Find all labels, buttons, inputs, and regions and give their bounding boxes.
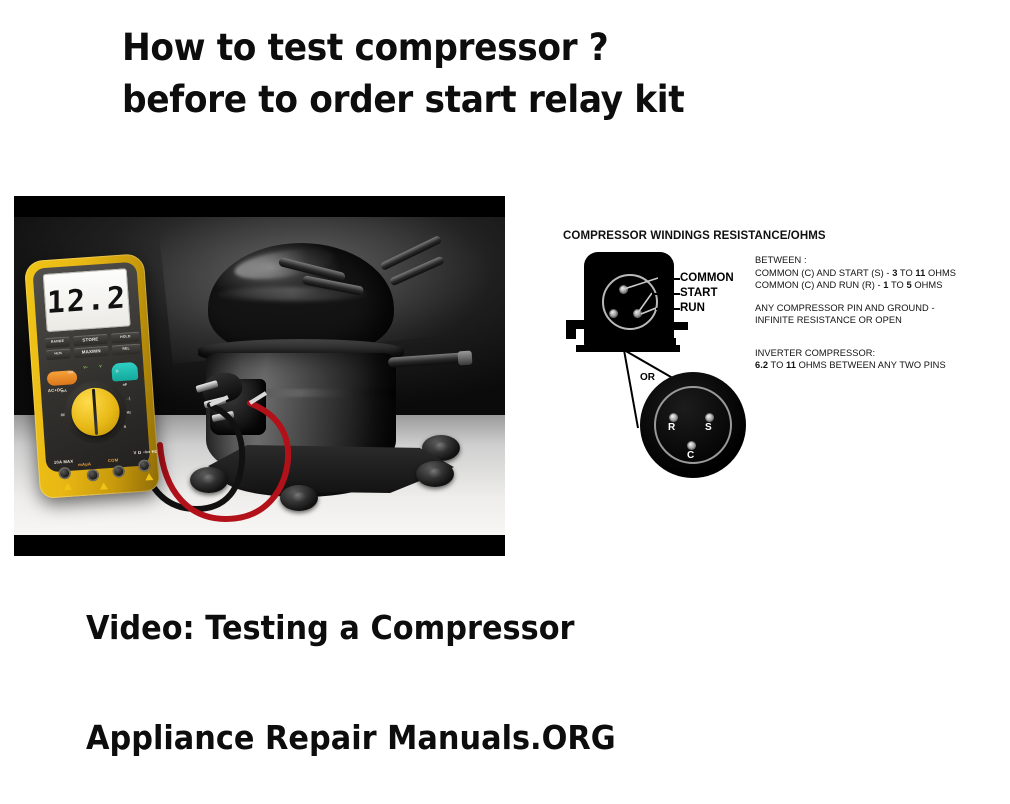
store-button[interactable]: STORE (73, 334, 108, 346)
site-caption: Appliance Repair Manuals.ORG (86, 718, 616, 757)
spec-common-run-max: 5 (906, 280, 911, 290)
callout-rule-common (658, 278, 680, 280)
jack-label-ma: mAµA (78, 461, 91, 467)
resistance-reading: 12.2 (47, 280, 127, 321)
plug-pin-run (670, 414, 677, 421)
maxmin-button[interactable]: MAXMIN (74, 346, 109, 358)
terminal-block-tab-left-lower (566, 329, 576, 339)
spec-heading-between: BETWEEN : (755, 254, 975, 267)
spec-inverter-heading: INVERTER COMPRESSOR: (755, 347, 975, 360)
input-jack-10a[interactable] (58, 467, 71, 480)
spec-common-run-min: 1 (883, 280, 888, 290)
callout-label-run: RUN (680, 302, 705, 314)
black-probe-tip (210, 397, 228, 405)
spec-spacer (755, 337, 975, 347)
rel-button[interactable]: REL (112, 344, 141, 356)
terminal-block-tab-right (670, 322, 688, 330)
diagram-pin-start (634, 310, 641, 317)
multimeter-button-row: RANGE Hz% STORE MAXMIN HOLD REL (45, 331, 143, 366)
photo-scene: 12.2 RANGE Hz% STORE MAXMIN HOLD REL AC+… (14, 217, 505, 535)
callout-rule-start (652, 293, 680, 295)
plug-pin-label-run: R (668, 422, 675, 433)
plug-pin-label-common: C (687, 450, 694, 461)
warning-triangle-icon (145, 473, 153, 481)
spec-spacer (755, 292, 975, 302)
compressor-windings-diagram: COMPRESSOR WINDINGS RESISTANCE/OHMS COMM… (562, 230, 982, 495)
diagram-pin-run (610, 310, 617, 317)
input-jack-common[interactable] (112, 465, 125, 478)
page-title-line-2: before to order start relay kit (122, 74, 754, 126)
plug-pin-label-start: S (705, 422, 712, 433)
diagram-title: COMPRESSOR WINDINGS RESISTANCE/OHMS (563, 230, 826, 242)
multimeter-jack-panel: 10A MAX mAµA COM V Ω ⊣↦ Hz (51, 446, 146, 498)
spec-common-start: COMMON (C) AND START (S) - 3 TO 11 OHMS (755, 267, 975, 280)
terminal-block-base (576, 345, 680, 352)
plug-pin-start (706, 414, 713, 421)
warning-triangle-icon (99, 482, 107, 490)
spec-inverter-min: 6.2 (755, 360, 768, 370)
compressor-test-photo: 12.2 RANGE Hz% STORE MAXMIN HOLD REL AC+… (14, 196, 505, 556)
dial-tick-vac: V~ (83, 365, 88, 369)
warning-triangle-icon (63, 483, 71, 491)
range-button[interactable]: RANGE (45, 336, 70, 348)
input-jack-ma[interactable] (87, 469, 100, 482)
jack-label-10a: 10A MAX (54, 459, 74, 465)
dial-tick-diode: →| (126, 396, 131, 400)
zoom-cone-edge-left (624, 350, 638, 428)
dial-tick-vdc: V (99, 364, 102, 368)
video-caption: Video: Testing a Compressor (86, 608, 575, 647)
page-title: How to test compressor ? before to order… (122, 22, 802, 126)
terminal-block-tab-left (566, 320, 588, 329)
spec-inverter-max: 11 (786, 360, 796, 370)
spec-spacer (755, 327, 975, 337)
or-label: OR (640, 372, 655, 383)
spec-common-start-max: 11 (915, 268, 925, 278)
spec-common-start-min: 3 (892, 268, 897, 278)
spec-ground-line-2: INFINITE RESISTANCE OR OPEN (755, 314, 975, 327)
dial-tick-ohms: Ω (116, 369, 119, 373)
spec-inverter-range: 6.2 TO 11 OHMS BETWEEN ANY TWO PINS (755, 359, 975, 372)
dial-tick-millivolt: mV (68, 370, 74, 374)
spec-ground-line-1: ANY COMPRESSOR PIN AND GROUND - (755, 302, 975, 315)
callout-label-common: COMMON (680, 272, 734, 284)
callout-label-start: START (680, 287, 717, 299)
dial-tick-capacitance: nF (123, 383, 128, 387)
resistance-spec-text: BETWEEN : COMMON (C) AND START (S) - 3 T… (755, 254, 975, 372)
page-title-line-1: How to test compressor ? (122, 22, 754, 74)
digital-multimeter[interactable]: 12.2 RANGE Hz% STORE MAXMIN HOLD REL AC+… (24, 253, 160, 499)
multimeter-faceplate: 12.2 RANGE Hz% STORE MAXMIN HOLD REL AC+… (32, 262, 150, 473)
spec-common-run: COMMON (C) AND RUN (R) - 1 TO 5 OHMS (755, 279, 975, 292)
diagram-pin-common (620, 286, 627, 293)
hz-button[interactable]: Hz% (46, 348, 71, 360)
callout-rule-run (656, 308, 680, 310)
inverter-plug-diagram: R S C (640, 372, 746, 478)
multimeter-display: 12.2 (43, 268, 131, 332)
dial-tick-frequency: Hz (127, 410, 132, 414)
red-probe-tip (250, 393, 266, 403)
hold-button[interactable]: HOLD (111, 332, 140, 344)
plug-pin-common (688, 442, 695, 449)
terminal-pin-circle (602, 274, 658, 330)
jack-label-com: COM (108, 457, 119, 463)
dial-tick-amp: A (123, 425, 126, 429)
dial-tick-milliamp: mA (61, 389, 67, 393)
